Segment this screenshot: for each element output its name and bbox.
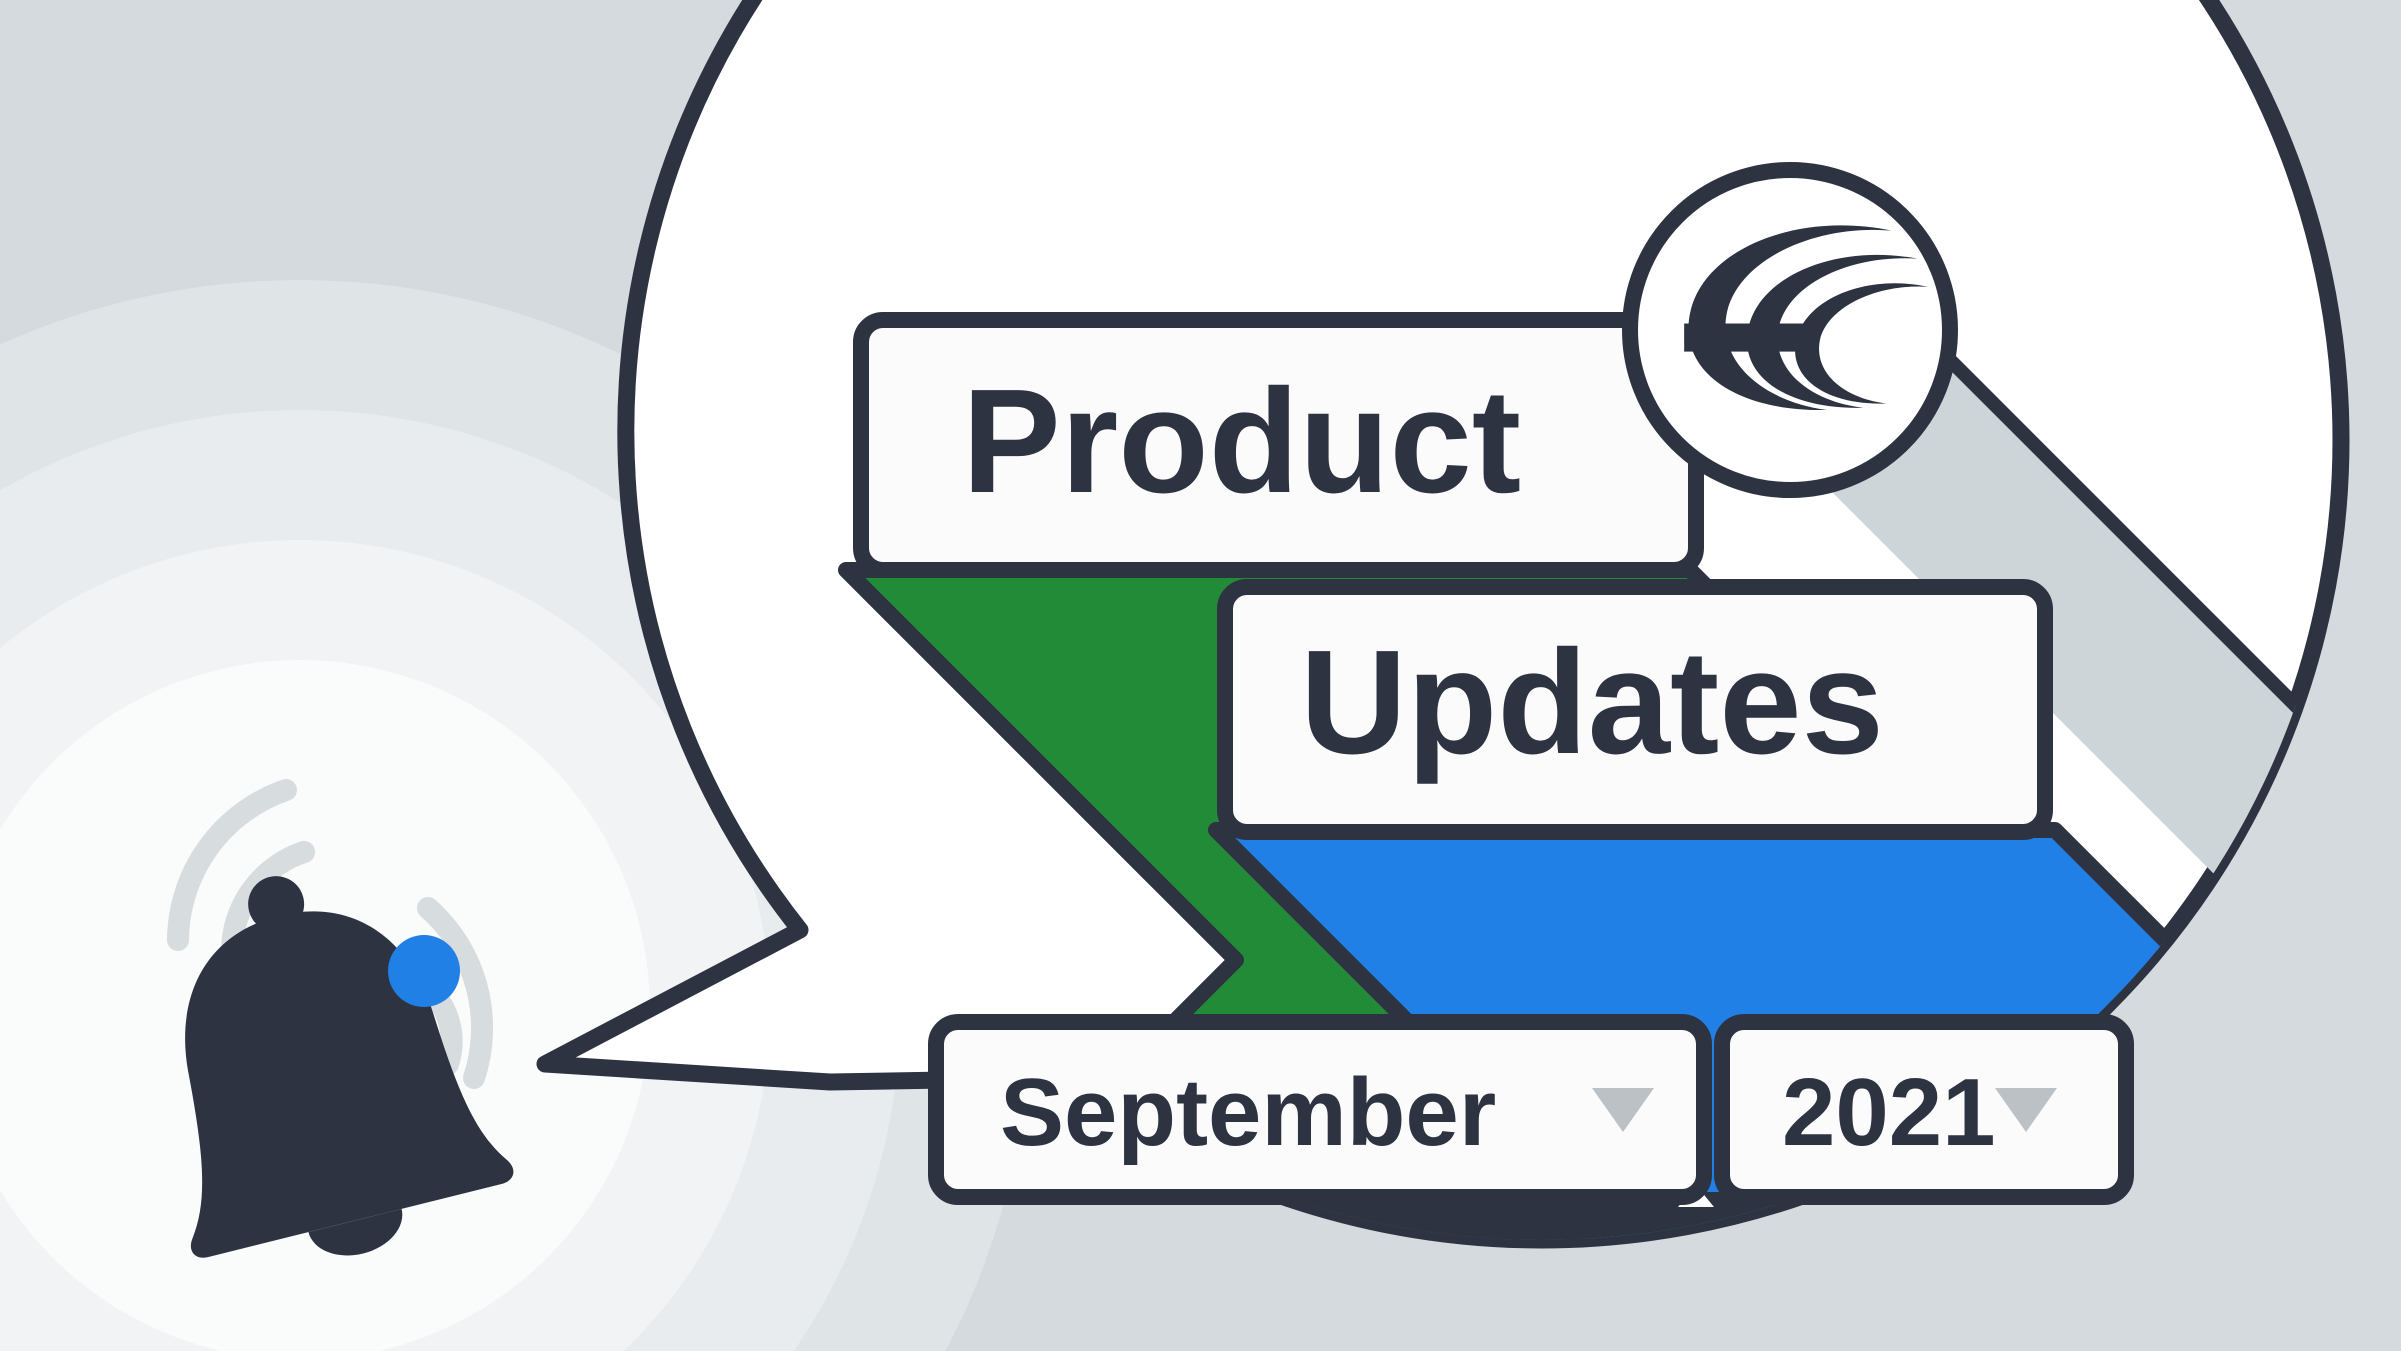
- month-dropdown-label: September: [1000, 1059, 1496, 1166]
- title-line-2: Updates: [1300, 620, 1884, 785]
- title-card-product: Product: [861, 320, 1696, 570]
- month-dropdown[interactable]: September: [936, 1022, 1704, 1197]
- banner-artwork: Product Updates: [0, 0, 2401, 1351]
- year-dropdown[interactable]: 2021: [1722, 1022, 2126, 1197]
- notification-dot: [388, 935, 460, 1007]
- logo-connector-bar: [1684, 324, 1814, 352]
- product-updates-banner: Product Updates: [0, 0, 2401, 1351]
- title-card-updates: Updates: [1225, 587, 2045, 832]
- brand-logo-badge: [1630, 170, 1950, 490]
- year-dropdown-label: 2021: [1782, 1059, 1996, 1166]
- title-line-1: Product: [962, 359, 1521, 524]
